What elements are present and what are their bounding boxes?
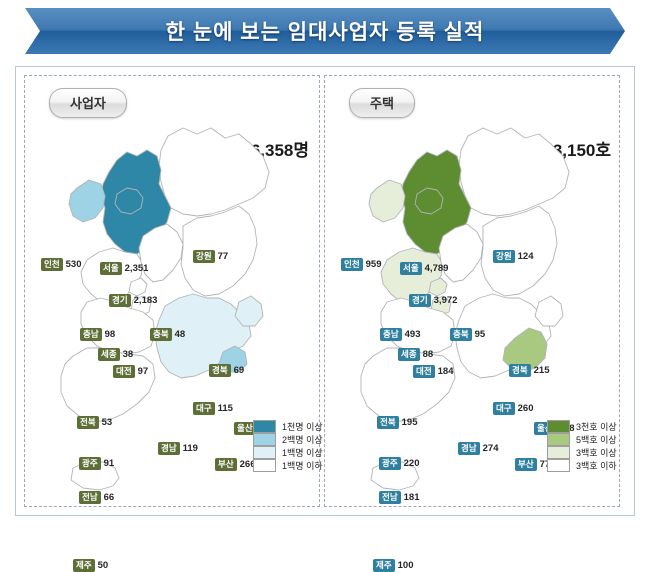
map-housing: 인천 959 서울 4,789 경기 3,972 강원 124 충남 493 충… [325,76,621,508]
map-label-gyeonggi: 경기 2,183 [109,294,157,307]
map-label-chungnam: 충남 98 [80,328,115,341]
map-label-chungnam: 충남 493 [380,328,421,341]
panel-housing: 주택 전국 13,150호 [324,75,620,507]
region-tag: 세종 [398,348,420,361]
region-tag: 서울 [400,262,422,275]
region-value: 69 [234,365,245,376]
region-tag: 경북 [209,364,231,377]
region-tag: 전북 [377,416,399,429]
region-tag: 충북 [450,328,472,341]
map-business-operators: 인천 530 서울 2,351 경기 2,183 강원 77 충남 98 충북 … [25,76,321,508]
content-frame: 사업자 전국 6,358명 [15,66,635,516]
region-incheon [369,180,405,222]
map-label-gangwon: 강원 124 [493,250,534,263]
legend-row: 3천호 이상 [547,420,617,433]
region-value: 195 [402,417,418,428]
region-value: 215 [534,365,550,376]
region-gangwon [459,128,569,216]
region-value: 119 [183,443,198,454]
panel-business-operators: 사업자 전국 6,358명 [24,75,320,507]
map-label-sejong: 세종 38 [98,348,133,361]
map-label-jeju: 제주 100 [373,559,414,572]
region-value: 220 [404,458,420,469]
legend-row: 2백명 이상 [253,433,323,446]
map-label-jeonnam: 전남 181 [379,491,420,504]
region-tag: 부산 [515,458,537,471]
map-label-jeonbuk: 전북 195 [377,416,418,429]
region-tag: 인천 [41,258,63,271]
map-label-chungbuk: 충북 48 [150,328,185,341]
legend-label: 3백호 이하 [576,459,617,472]
map-label-daegu: 대구 115 [193,402,233,415]
map-label-gwangju: 광주 91 [79,457,114,470]
legend-swatch [547,420,570,433]
region-value: 38 [123,349,134,360]
region-gangwon [159,128,269,216]
map-label-jeju: 제주 50 [73,559,108,572]
title-banner: 한 눈에 보는 임대사업자 등록 실적 [25,8,625,54]
region-value: 181 [404,492,420,503]
legend-swatch [253,420,276,433]
region-value: 124 [518,251,534,262]
legend-business-operators: 1천명 이상 2백명 이상 1백명 이상 1백명 이하 [253,420,323,472]
map-label-jeonnam: 전남 66 [79,491,114,504]
region-value: 88 [423,349,434,360]
region-value: 4,789 [425,263,449,274]
region-tag: 부산 [215,458,237,471]
region-value: 274 [483,443,499,454]
region-value: 53 [102,417,113,428]
region-value: 2,183 [134,295,158,306]
legend-swatch [547,433,570,446]
legend-row: 1백명 이상 [253,446,323,459]
region-tag: 경남 [458,442,480,455]
region-tag: 대구 [193,402,215,415]
map-label-gyeongbuk: 경북 215 [509,364,550,377]
page-title: 한 눈에 보는 임대사업자 등록 실적 [25,8,625,54]
region-value: 77 [218,251,229,262]
map-label-incheon: 인천 959 [341,258,382,271]
map-label-busan: 부산 266 [215,458,256,471]
map-label-gyeongbuk: 경북 69 [209,364,244,377]
map-label-seoul: 서울 4,789 [400,262,448,275]
region-value: 66 [104,492,115,503]
map-label-sejong: 세종 88 [398,348,433,361]
region-tag: 강원 [493,250,515,263]
region-value: 959 [366,259,382,270]
region-tag: 제주 [73,559,95,572]
map-label-chungbuk: 충북 95 [450,328,485,341]
legend-swatch [253,459,276,472]
region-tag: 서울 [100,262,122,275]
region-tag: 경남 [158,442,180,455]
map-label-gwangju: 광주 220 [379,457,420,470]
region-tag: 제주 [373,559,395,572]
region-value: 97 [138,366,149,377]
region-tag: 대구 [493,402,515,415]
legend-swatch [253,446,276,459]
region-value: 2,351 [125,263,149,274]
legend-swatch [547,446,570,459]
legend-housing: 3천호 이상 5백호 이상 3백호 이상 3백호 이하 [547,420,617,472]
region-tag: 경기 [409,294,431,307]
legend-swatch [547,459,570,472]
region-value: 3,972 [434,295,458,306]
region-incheon [69,180,105,222]
region-tag: 경북 [509,364,531,377]
legend-label: 1백명 이하 [282,459,323,472]
legend-row: 1천명 이상 [253,420,323,433]
map-label-incheon: 인천 530 [41,258,82,271]
region-tag: 강원 [193,250,215,263]
map-label-daegu: 대구 260 [493,402,534,415]
legend-label: 3백호 이상 [576,446,617,459]
region-value: 493 [405,329,421,340]
region-tag: 전북 [77,416,99,429]
region-ulsan [535,296,563,326]
region-value: 95 [475,329,486,340]
legend-label: 1천명 이상 [282,420,323,433]
region-value: 50 [98,560,109,571]
legend-row: 3백호 이상 [547,446,617,459]
region-tag: 대전 [413,365,435,378]
region-tag: 충남 [80,328,102,341]
map-label-seoul: 서울 2,351 [100,262,148,275]
region-tag: 충남 [380,328,402,341]
region-tag: 세종 [98,348,120,361]
legend-row: 5백호 이상 [547,433,617,446]
map-label-gyeongnam: 경남 274 [458,442,499,455]
region-value: 184 [438,366,454,377]
region-value: 91 [104,458,115,469]
map-label-gyeongnam: 경남 119 [158,442,198,455]
map-label-daejeon: 대전 97 [113,365,148,378]
region-value: 530 [66,259,82,270]
region-tag: 광주 [379,457,401,470]
region-tag: 광주 [79,457,101,470]
region-tag: 대전 [113,365,135,378]
map-label-gyeonggi: 경기 3,972 [409,294,457,307]
legend-swatch [253,433,276,446]
region-value: 48 [175,329,186,340]
region-value: 98 [105,329,116,340]
legend-label: 1백명 이상 [282,446,323,459]
legend-label: 2백명 이상 [282,433,323,446]
region-tag: 충북 [150,328,172,341]
region-tag: 경기 [109,294,131,307]
map-label-daejeon: 대전 184 [413,365,454,378]
region-tag: 전남 [379,491,401,504]
map-label-jeonbuk: 전북 53 [77,416,112,429]
legend-row: 3백호 이하 [547,459,617,472]
region-value: 260 [518,403,534,414]
legend-label: 3천호 이상 [576,420,617,433]
region-ulsan [235,296,263,326]
region-value: 115 [218,403,233,414]
legend-label: 5백호 이상 [576,433,617,446]
region-tag: 전남 [79,491,101,504]
region-tag: 인천 [341,258,363,271]
legend-row: 1백명 이하 [253,459,323,472]
map-label-gangwon: 강원 77 [193,250,228,263]
region-value: 100 [398,560,414,571]
